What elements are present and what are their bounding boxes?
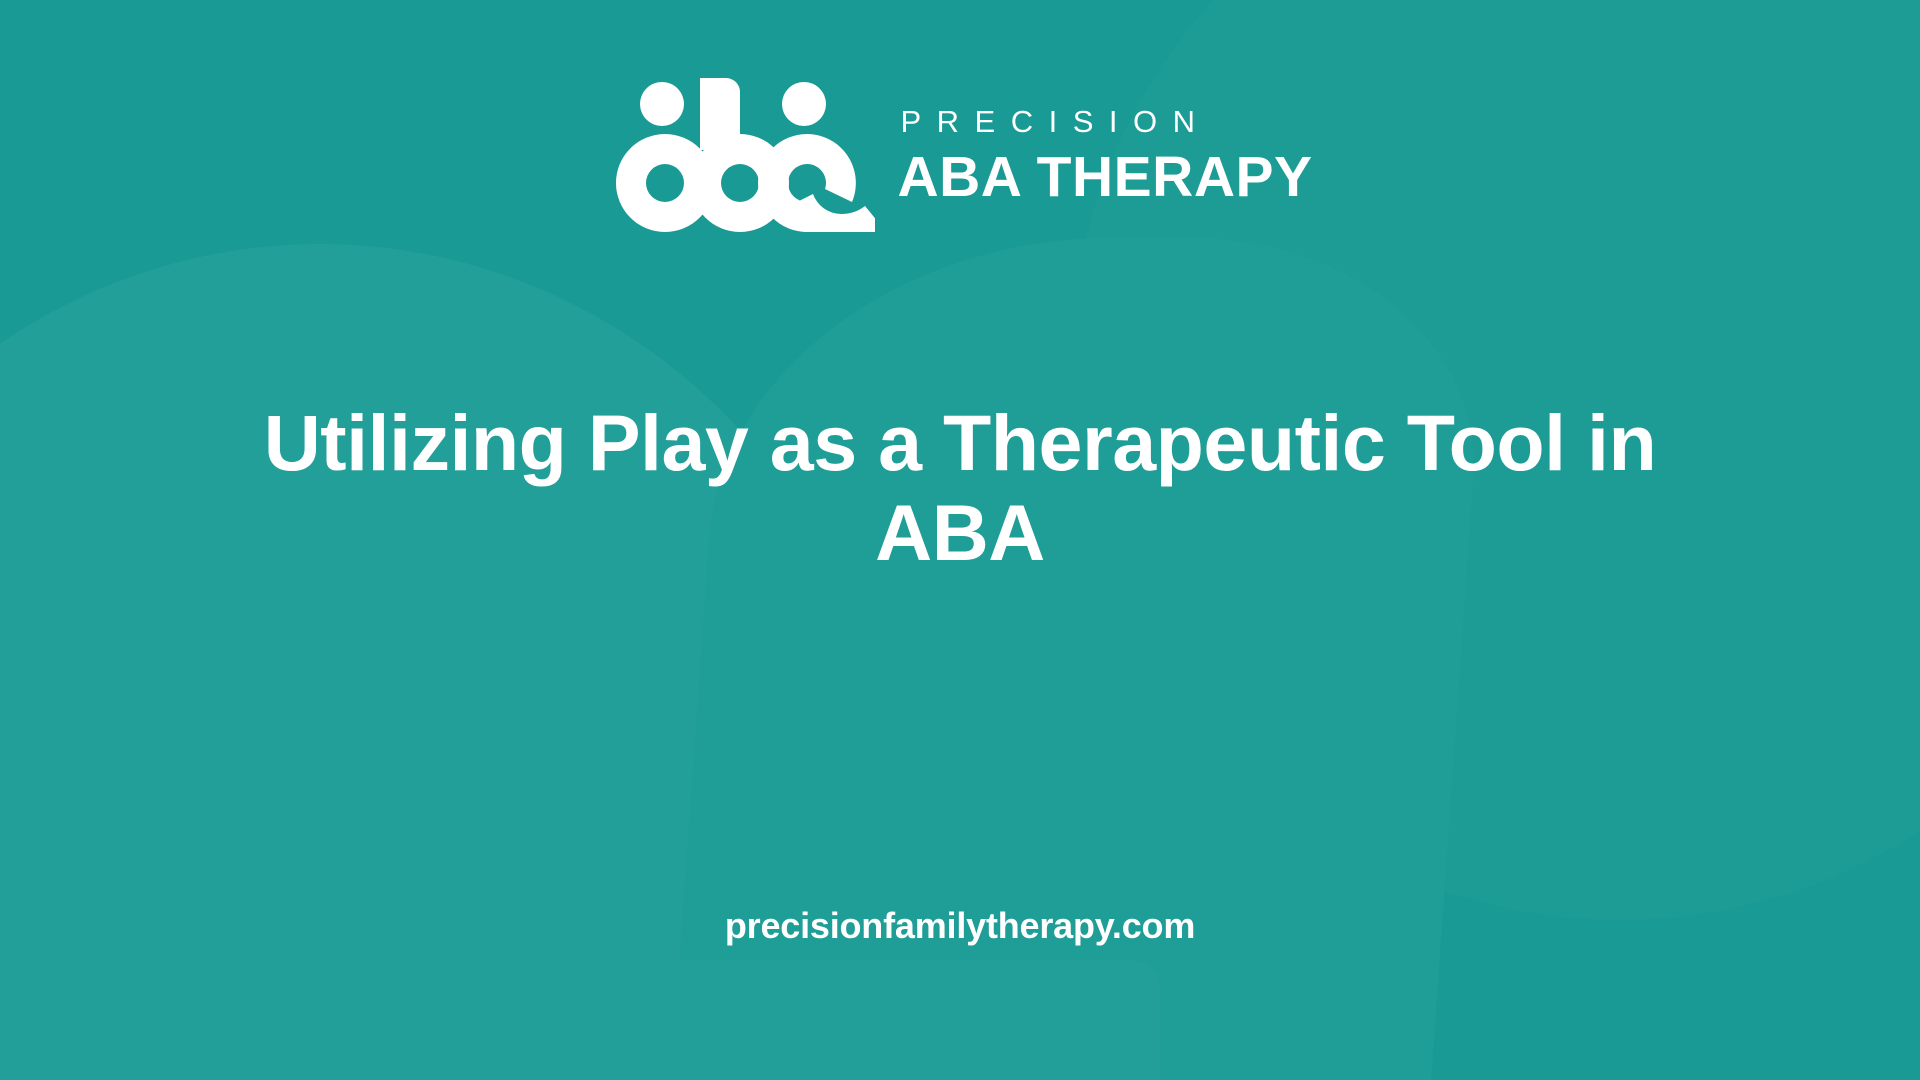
website-url: precisionfamilytherapy.com: [0, 905, 1920, 947]
slide-content: PRECISION ABA THERAPY Utilizing Play as …: [0, 0, 1920, 1080]
brand-name-aba-therapy: ABA THERAPY: [897, 149, 1312, 206]
aba-people-logo-icon: [607, 72, 875, 232]
brand-wordmark: PRECISION ABA THERAPY: [897, 106, 1312, 206]
brand-logo-lockup: PRECISION ABA THERAPY: [607, 72, 1312, 232]
brand-name-precision: PRECISION: [900, 106, 1312, 137]
page-title: Utilizing Play as a Therapeutic Tool in …: [195, 398, 1725, 578]
slide-canvas: PRECISION ABA THERAPY Utilizing Play as …: [0, 0, 1920, 1080]
